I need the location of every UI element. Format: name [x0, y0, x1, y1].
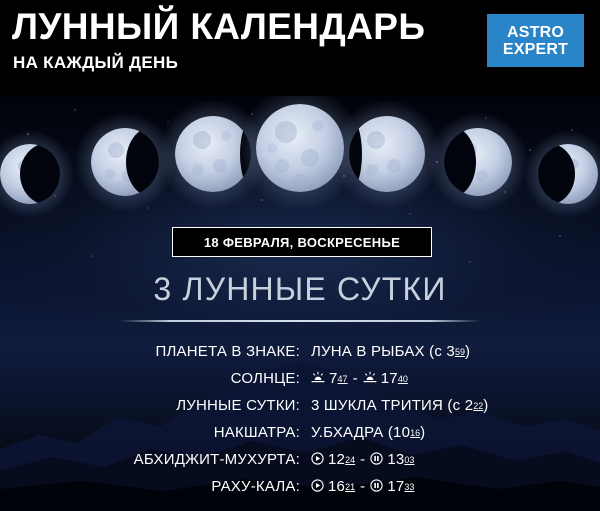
pause-circle-icon — [370, 479, 383, 496]
page-subtitle: НА КАЖДЫЙ ДЕНЬ — [13, 54, 178, 71]
moon-phase-strip — [0, 96, 600, 221]
row-label-abhijit-muhurta: АБХИДЖИТ-МУХУРТА: — [0, 451, 300, 468]
lunar-day-text: 3 ШУКЛА ТРИТИЯ (с 2 — [311, 397, 473, 414]
info-table: ПЛАНЕТА В ЗНАКЕ: ЛУНА В РЫБАХ (с 359) СО… — [0, 338, 600, 500]
lunar-day-minutes: 22 — [473, 401, 483, 411]
lunar-day-title: 3 ЛУННЫЕ СУТКИ — [0, 271, 600, 308]
table-row-rahu-kala: РАХУ-КАЛА: 1621 - 1733 — [0, 473, 600, 500]
sunrise-minutes: 47 — [338, 374, 348, 384]
title-divider — [120, 320, 480, 322]
nakshatra-minutes: 16 — [410, 428, 420, 438]
play-circle-icon — [311, 479, 324, 496]
table-row-lunar-day: ЛУННЫЕ СУТКИ: 3 ШУКЛА ТРИТИЯ (с 222) — [0, 392, 600, 419]
sunrise-time: 7 — [329, 370, 338, 387]
abhijit-end-time: 13 — [387, 451, 404, 468]
header-bar: ЛУННЫЙ КАЛЕНДАРЬ НА КАЖДЫЙ ДЕНЬ ASTRO EX… — [0, 0, 600, 96]
sunrise-icon — [311, 371, 325, 388]
lunar-calendar-infographic: ЛУННЫЙ КАЛЕНДАРЬ НА КАЖДЫЙ ДЕНЬ ASTRO EX… — [0, 0, 600, 511]
planet-sign-minutes: 59 — [455, 347, 465, 357]
row-value-abhijit-muhurta: 1224 - 1303 — [300, 451, 600, 468]
row-label-rahu-kala: РАХУ-КАЛА: — [0, 478, 300, 495]
row-value-planet-in-sign: ЛУНА В РЫБАХ (с 359) — [300, 343, 600, 360]
sunset-minutes: 40 — [398, 374, 408, 384]
table-row-nakshatra: НАКШАТРА: У.БХАДРА (1016) — [0, 419, 600, 446]
nakshatra-close: ) — [420, 424, 425, 441]
moon-phase-6 — [428, 112, 528, 212]
table-row-abhijit-muhurta: АБХИДЖИТ-МУХУРТА: 1224 - — [0, 446, 600, 473]
pause-circle-icon — [370, 452, 383, 469]
rahu-start-time: 16 — [328, 478, 345, 495]
date-badge-label: 18 ФЕВРАЛЯ, ВОСКРЕСЕНЬЕ — [204, 235, 400, 250]
sunset-time: 17 — [381, 370, 398, 387]
date-badge: 18 ФЕВРАЛЯ, ВОСКРЕСЕНЬЕ — [172, 227, 432, 257]
planet-sign-text: ЛУНА В РЫБАХ (с 3 — [311, 343, 455, 360]
row-label-nakshatra: НАКШАТРА: — [0, 424, 300, 441]
abhijit-end-minutes: 03 — [404, 455, 414, 465]
page-title: ЛУННЫЙ КАЛЕНДАРЬ — [12, 8, 425, 45]
rahu-start-minutes: 21 — [345, 482, 355, 492]
lunar-day-close: ) — [483, 397, 488, 414]
row-value-lunar-day: 3 ШУКЛА ТРИТИЯ (с 222) — [300, 397, 600, 414]
sunset-icon — [363, 371, 377, 388]
nakshatra-text: У.БХАДРА (10 — [311, 424, 410, 441]
planet-sign-close: ) — [465, 343, 470, 360]
abhijit-start-time: 12 — [328, 451, 345, 468]
moon-phase-7 — [521, 130, 600, 218]
row-value-nakshatra: У.БХАДРА (1016) — [300, 424, 600, 441]
moon-phase-1 — [0, 130, 76, 218]
row-value-sun: 747 - 1740 — [300, 370, 600, 387]
row-label-planet-in-sign: ПЛАНЕТА В ЗНАКЕ: — [0, 343, 300, 360]
table-row-sun: СОЛНЦЕ: 747 - — [0, 365, 600, 392]
table-row-planet-in-sign: ПЛАНЕТА В ЗНАКЕ: ЛУНА В РЫБАХ (с 359) — [0, 338, 600, 365]
logo-line-expert: EXPERT — [503, 41, 568, 58]
row-label-lunar-day: ЛУННЫЕ СУТКИ: — [0, 397, 300, 414]
rahu-end-time: 17 — [387, 478, 404, 495]
sun-time-separator: - — [348, 370, 363, 387]
abhijit-separator: - — [355, 451, 370, 468]
row-value-rahu-kala: 1621 - 1733 — [300, 478, 600, 495]
rahu-end-minutes: 33 — [404, 482, 414, 492]
rahu-separator: - — [355, 478, 370, 495]
logo-line-astro: ASTRO — [507, 24, 564, 41]
play-circle-icon — [311, 452, 324, 469]
moon-phase-5 — [332, 99, 442, 209]
row-label-sun: СОЛНЦЕ: — [0, 370, 300, 387]
abhijit-start-minutes: 24 — [345, 455, 355, 465]
astro-expert-logo[interactable]: ASTRO EXPERT — [487, 14, 584, 67]
